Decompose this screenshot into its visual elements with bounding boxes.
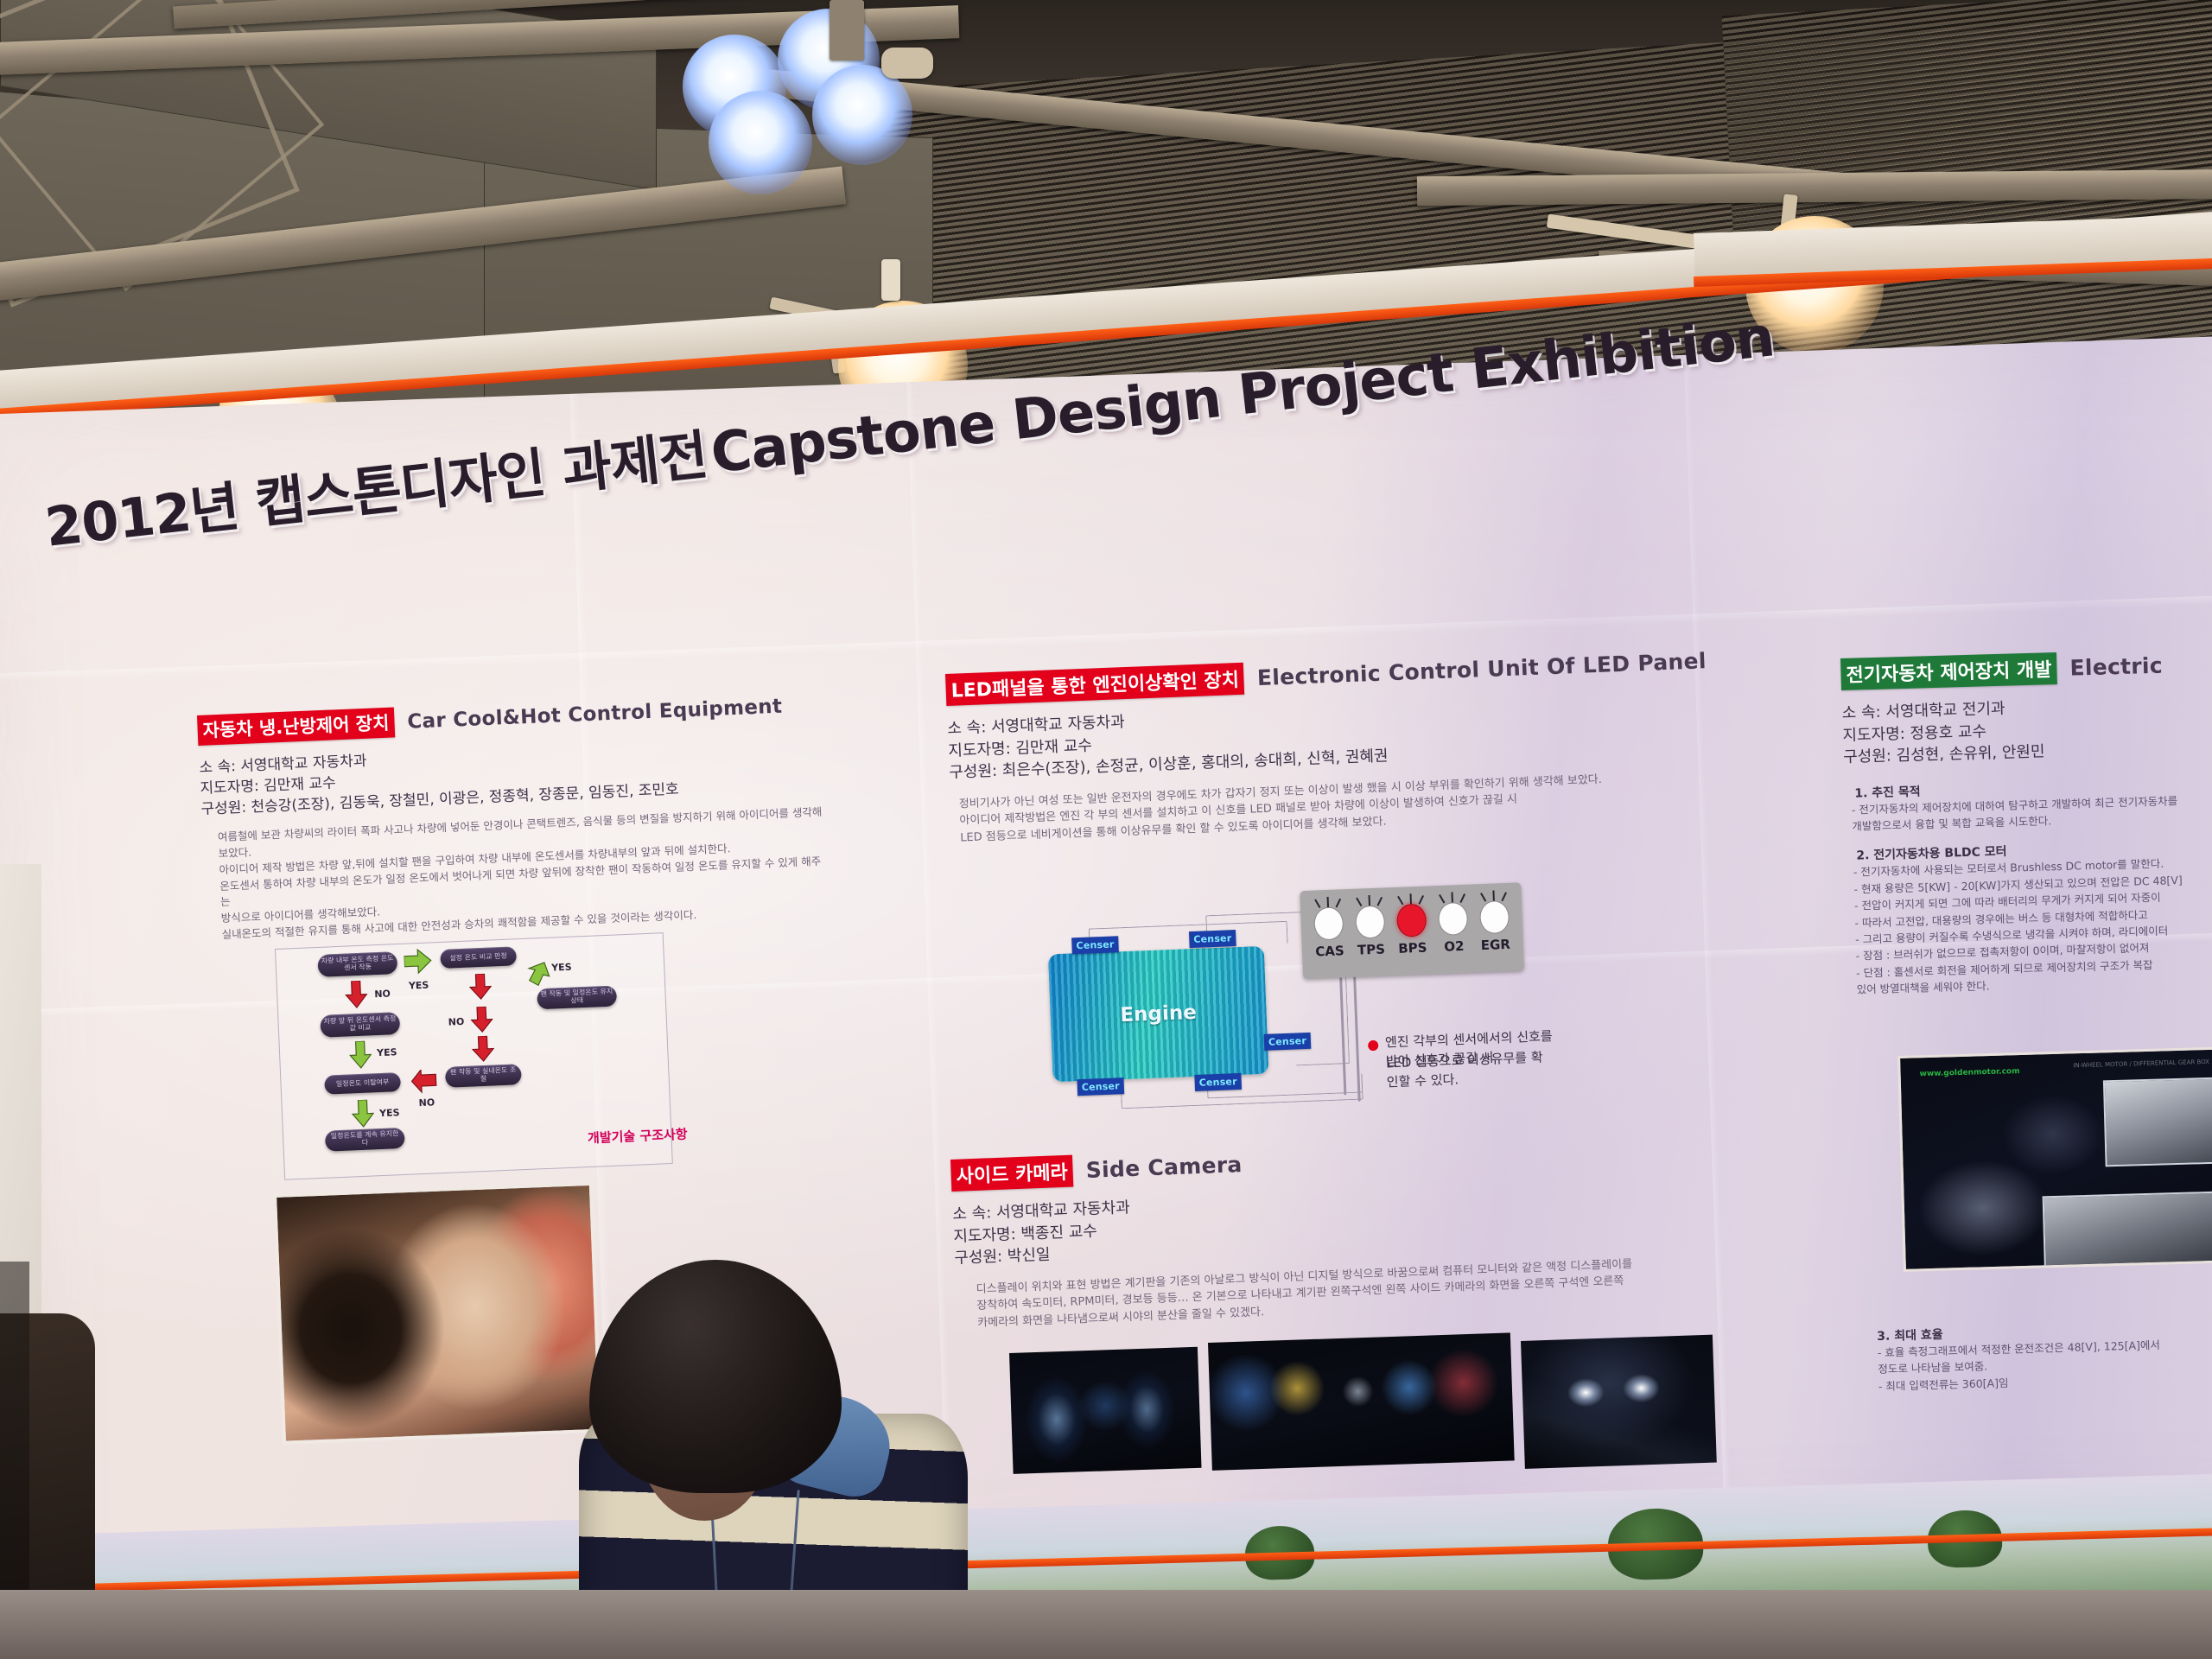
led-group-egr: EGR: [1475, 900, 1515, 954]
led-group-tps: TPS: [1351, 905, 1390, 958]
led-ray-bps-a: [1397, 896, 1403, 905]
ceiling-vent-duct: [881, 48, 933, 79]
led-ray-tps-b: [1369, 895, 1370, 906]
led-dot-cas: [1313, 906, 1344, 940]
panel3-photo-side-mirror-night: [1521, 1335, 1717, 1469]
flow-arrow-down-red-1: [345, 981, 368, 1009]
led-group-bps: BPS: [1392, 903, 1432, 957]
led-label-egr: EGR: [1477, 937, 1516, 954]
panel3-title-korean: 사이드 카메라: [950, 1155, 1073, 1192]
spotlight-3: [709, 91, 812, 194]
led-ray-tps-a: [1356, 898, 1362, 906]
flow-arrow-right-green-1: [404, 948, 432, 975]
engine-block: Engine: [1048, 946, 1268, 1082]
panel-led-ecu: LED패널을 통한 엔진이상확인 장치 Electronic Control U…: [945, 643, 1764, 847]
led-ray-o2-a: [1439, 894, 1445, 903]
flow-arrow-left-red: [410, 1069, 437, 1094]
led-ray-tps-c: [1376, 897, 1382, 906]
sensor-right: Censer: [1264, 1033, 1312, 1051]
led-ray-o2-c: [1459, 893, 1465, 903]
flow-node-2: 차량 앞 뒤 온도센서 측정값 비교: [320, 1012, 400, 1038]
flow-node-4: 일정온도를 계속 유지한다: [325, 1128, 405, 1152]
spotlight-4: [812, 65, 912, 165]
panel4-motor-slide-photo: www.goldenmotor.com IN-WHEEL MOTOR / DIF…: [1897, 1046, 2212, 1272]
diagram-note-line-2: LED 점등으로 이상유무를 확인할 수 있다.: [1386, 1048, 1555, 1092]
flow-label-no-2: NO: [448, 1016, 464, 1028]
note-bullet-icon: [1368, 1040, 1378, 1051]
panel4-title-korean: 전기자동차 제어장치 개발: [1840, 652, 2057, 690]
panel-ev-control: 전기자동차 제어장치 개발 Electric 소 속: 서영대학교 전기과 지도…: [1840, 645, 2212, 998]
led-group-cas: CAS: [1309, 906, 1349, 960]
sensor-bottom-right: Censer: [1194, 1073, 1242, 1091]
led-label-cas: CAS: [1311, 943, 1350, 960]
led-ray-egr-a: [1480, 893, 1486, 901]
flow-node-5: 설정 온도 비교 판정: [440, 946, 517, 969]
panel-car-cool-hot: 자동차 냉.난방제어 장치 Car Cool&Hot Control Equip…: [197, 690, 828, 944]
led-dot-o2: [1438, 902, 1468, 936]
led-dot-tps: [1355, 905, 1385, 938]
flow-node-1: 차량 내부 온도 측정 온도센서 작동: [317, 951, 397, 977]
exhibition-floor: [0, 1590, 2212, 1659]
sensor-top-right: Censer: [1189, 930, 1236, 948]
panel4-title-english: Electric: [2069, 653, 2163, 681]
led-ray-cas-a: [1314, 899, 1320, 908]
flow-node-6: 팬 작동 및 실내온도 조절: [445, 1064, 522, 1088]
led-ray-egr-b: [1492, 891, 1494, 901]
panel3-photo-digital-dashboard: [1208, 1332, 1515, 1471]
flow-label-no-1: NO: [374, 988, 391, 1000]
slide-inset-axle: [2043, 1190, 2212, 1270]
flow-label-yes-2: YES: [377, 1046, 397, 1058]
ceiling-sensor-box: [881, 259, 900, 301]
flow-arrow-down-red-2: [468, 974, 492, 1001]
flow-arrow-diag-green: [525, 961, 550, 988]
led-label-o2: O2: [1435, 938, 1474, 956]
person-hair: [589, 1260, 842, 1493]
led-label-tps: TPS: [1352, 941, 1391, 958]
flow-arrow-down-red-4: [471, 1035, 494, 1062]
flow-label-yes-1: YES: [409, 980, 429, 992]
slide-url-text: www.goldenmotor.com: [1919, 1067, 2019, 1078]
flow-arrow-down-green-1: [349, 1040, 372, 1069]
flow-node-7: 팬 작동 및 일정온도 유지상태: [537, 985, 617, 1009]
led-ray-bps-b: [1410, 893, 1412, 904]
led-ray-egr-c: [1501, 892, 1506, 901]
flow-label-yes-4: YES: [551, 962, 572, 974]
led-group-o2: O2: [1433, 902, 1473, 956]
led-ray-bps-c: [1418, 895, 1423, 905]
flow-node-3: 일정온도 이탈여부: [324, 1072, 401, 1095]
sensor-top-left: Censer: [1071, 936, 1119, 954]
panel-side-camera: 사이드 카메라 Side Camera 소 속: 서영대학교 자동차과 지도자명…: [950, 1129, 1734, 1332]
led-ray-cas-c: [1336, 899, 1341, 908]
slide-inset-vehicle: [2103, 1077, 2212, 1167]
led-dot-egr: [1479, 900, 1510, 934]
engine-led-diagram: Engine Censer Censer Censer Censer Cense…: [1011, 869, 1556, 1141]
led-ray-cas-b: [1327, 897, 1329, 907]
led-dot-bps-active: [1396, 904, 1427, 938]
panel3-photo-instrument-cluster: [1009, 1347, 1202, 1474]
flow-arrow-down-red-3: [470, 1007, 493, 1033]
sensor-bottom-left: Censer: [1077, 1077, 1124, 1096]
slide-headline-text: IN-WHEEL MOTOR / DIFFERENTIAL GEAR BOX: [2073, 1058, 2212, 1071]
spotlight-mount-bracket: [829, 0, 864, 60]
flow-label-no-3: NO: [418, 1096, 435, 1109]
led-indicator-panel: CAS TPS BPS O2: [1300, 882, 1524, 979]
flow-label-yes-3: YES: [379, 1107, 400, 1119]
flow-arrow-down-green-2: [351, 1099, 374, 1128]
panel3-title-english: Side Camera: [1085, 1152, 1243, 1183]
panel4-section3: 3. 최대 효율 - 효율 측정그래프에서 적정한 운전조건은 48[V], 1…: [1877, 1317, 2212, 1395]
led-label-bps: BPS: [1394, 939, 1433, 957]
led-ray-o2-b: [1451, 892, 1452, 902]
exhibition-hall-photo: 2012년 캡스톤디자인 과제전 Capstone Design Project…: [0, 0, 2212, 1659]
